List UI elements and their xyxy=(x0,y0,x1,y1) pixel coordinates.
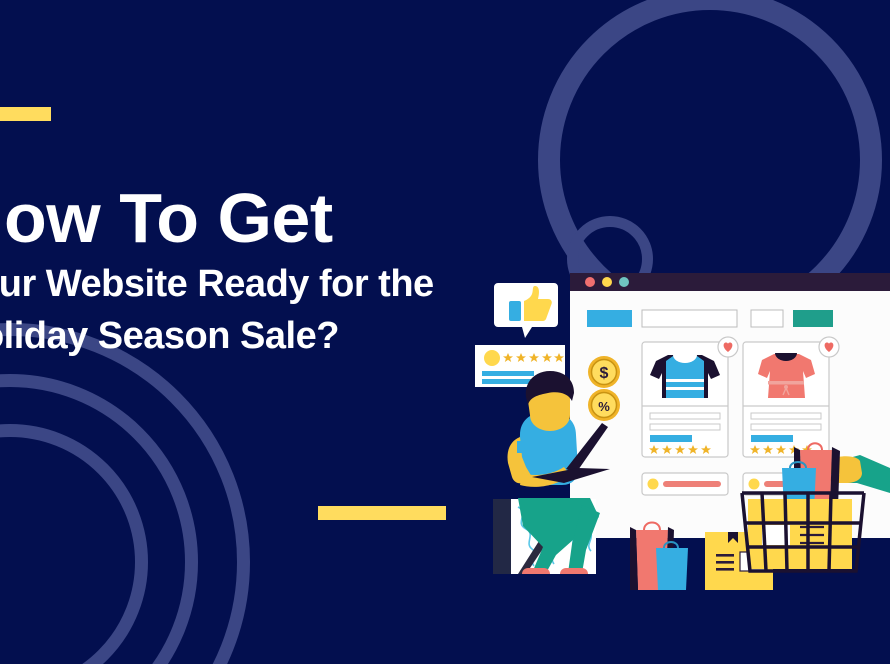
decorative-arc-middle xyxy=(0,374,198,664)
decorative-arc-inner xyxy=(0,424,148,664)
svg-text:%: % xyxy=(598,399,610,414)
shopping-bag-blue xyxy=(656,542,688,590)
browser-dot-minimize xyxy=(602,277,612,287)
headline: How To Get Your Website Ready for the Ho… xyxy=(0,178,514,362)
shoe-left xyxy=(522,568,550,574)
avatar xyxy=(484,350,500,366)
shoe-right xyxy=(560,568,588,574)
svg-text:$: $ xyxy=(600,365,609,382)
search-field xyxy=(642,310,737,327)
nav-box xyxy=(751,310,783,327)
headline-line-3: Holiday Season Sale? xyxy=(0,310,514,362)
yellow-bar-top-left xyxy=(0,107,51,121)
headline-line-2: Your Website Ready for the xyxy=(0,258,514,310)
product-card-dress xyxy=(743,337,839,457)
product-cta-bar-1 xyxy=(650,435,692,442)
dollar-coin-icon: $ xyxy=(588,356,620,388)
browser-titlebar xyxy=(570,273,890,291)
browser-dot-maximize xyxy=(619,277,629,287)
percent-coin-icon: % xyxy=(588,389,620,421)
site-logo-block xyxy=(587,310,632,327)
product-cta-bar-2 xyxy=(751,435,793,442)
headline-line-1: How To Get xyxy=(0,178,514,258)
yellow-bar-bottom-center xyxy=(318,506,446,520)
favorite-heart-icon-2 xyxy=(819,337,839,357)
browser-dot-close xyxy=(585,277,595,287)
ecommerce-illustration: $ % xyxy=(460,255,890,664)
favorite-heart-icon-1 xyxy=(718,337,738,357)
nav-button-teal xyxy=(793,310,833,327)
thumbs-up-icon xyxy=(494,283,558,338)
product-card-tshirt xyxy=(642,337,738,457)
progress-row-1 xyxy=(642,473,728,495)
banner-canvas: How To Get Your Website Ready for the Ho… xyxy=(0,0,890,664)
decorative-arc-outer xyxy=(0,323,250,664)
